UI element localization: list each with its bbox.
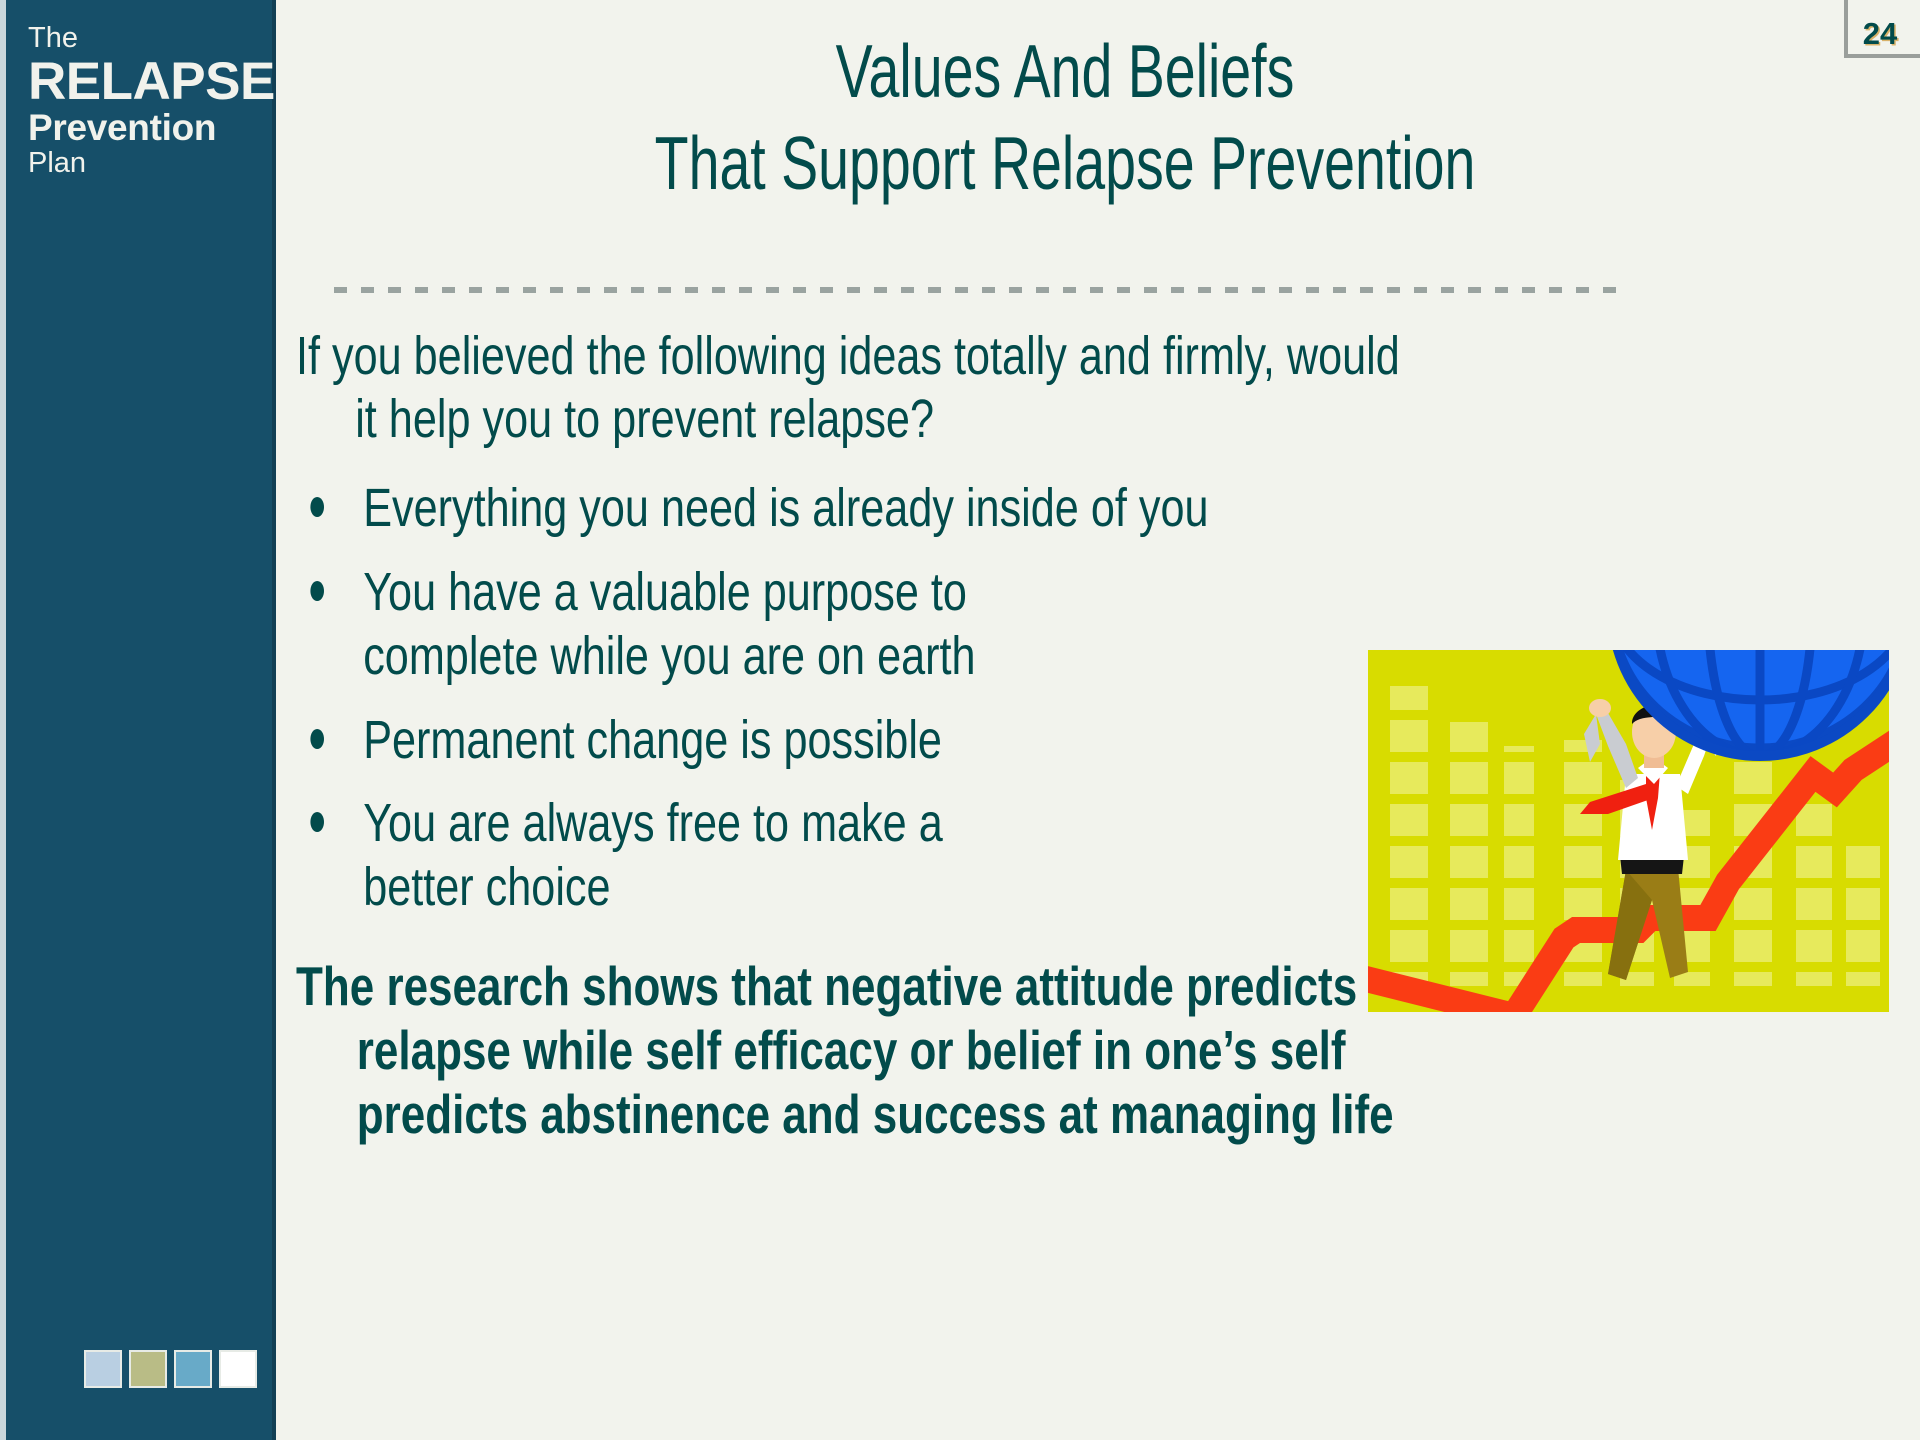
- swatch-blue: [174, 1350, 212, 1388]
- logo-line-relapse: RELAPSE: [28, 55, 258, 108]
- swatch-khaki: [129, 1350, 167, 1388]
- sidebar: The RELAPSE Prevention Plan: [0, 0, 276, 1440]
- intro-line-2: it help you to prevent relapse?: [296, 388, 1896, 451]
- intro-line-1: If you believed the following ideas tota…: [296, 325, 1896, 388]
- page-title-line-2: That Support Relapse Prevention: [499, 118, 1631, 210]
- bullet-text-1: Everything you need is already inside of…: [363, 477, 1259, 541]
- dashed-divider: [334, 287, 1626, 293]
- brand-logo: The RELAPSE Prevention Plan: [28, 24, 258, 178]
- page-title: Values And Beliefs That Support Relapse …: [499, 26, 1631, 209]
- swatch-white: [219, 1350, 257, 1388]
- logo-line-the: The: [28, 24, 258, 53]
- logo-line-plan: Plan: [28, 149, 258, 178]
- clipart-frame: [1368, 650, 1889, 1012]
- bullet-item-1: Everything you need is already inside of…: [296, 477, 1920, 541]
- bullet-text-3: Permanent change is possible: [363, 709, 1259, 773]
- bullet-dot-icon: [310, 581, 324, 601]
- page-number: 24: [1848, 16, 1912, 52]
- bullet-dot-icon: [310, 497, 324, 517]
- slide-canvas: The RELAPSE Prevention Plan 24 Values An…: [0, 0, 1920, 1440]
- clipart-figure-and-trend: [1368, 650, 1889, 1012]
- bullet-text-2: You have a valuable purpose to complete …: [363, 561, 1059, 688]
- page-number-badge: 24: [1844, 0, 1920, 58]
- page-title-line-1: Values And Beliefs: [499, 26, 1631, 118]
- color-swatch-row: [84, 1350, 257, 1388]
- swatch-light-blue: [84, 1350, 122, 1388]
- bullet-text-4: You are always free to make a better cho…: [363, 792, 1059, 919]
- closing-line-3: predicts abstinence and success at manag…: [296, 1082, 1896, 1146]
- bullet-dot-icon: [310, 729, 324, 749]
- intro-paragraph: If you believed the following ideas tota…: [296, 325, 1896, 451]
- closing-line-2: relapse while self efficacy or belief in…: [296, 1018, 1896, 1082]
- bullet-dot-icon: [310, 812, 324, 832]
- clipart-businessman-globe: [1368, 650, 1889, 1012]
- logo-line-prevention: Prevention: [28, 109, 258, 146]
